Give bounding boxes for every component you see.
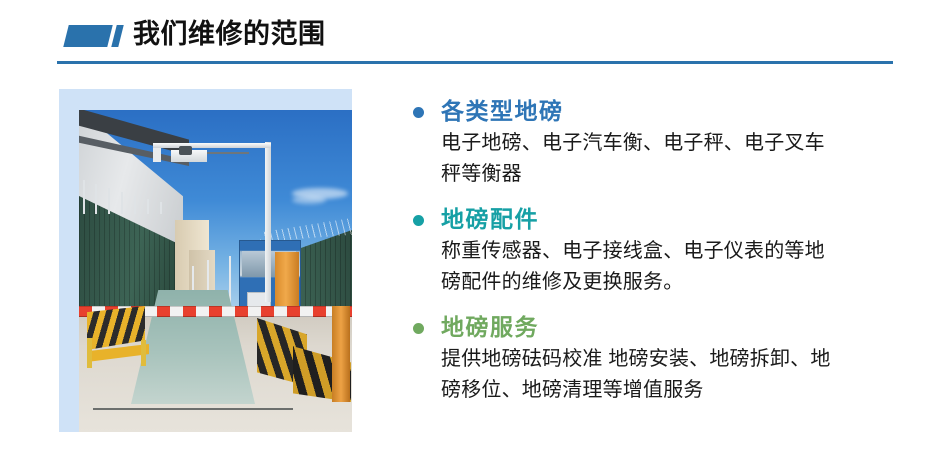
photo-camera-gantry-bracket [153, 148, 161, 162]
list-item: 地磅配件 称重传感器、电子接线盒、电子仪表的等地磅配件的维修及更换服务。 [410, 204, 920, 298]
list-item-body: 称重传感器、电子接线盒、电子仪表的等地磅配件的维修及更换服务。 [441, 236, 841, 298]
accent-parallelogram-icon [63, 25, 112, 47]
list-item-heading: 地磅服务 [441, 312, 920, 343]
bullet-dot-icon [413, 107, 424, 118]
list-item: 地磅服务 提供地磅砝码校准 地磅安装、地磅拆卸、地磅移位、地磅清理等增值服务 [410, 312, 920, 406]
header-accent-mark [66, 25, 122, 47]
bullet-dot-icon [413, 323, 424, 334]
photo-cloud [292, 196, 326, 204]
accent-slash-icon [111, 25, 123, 47]
list-item-body: 电子地磅、电子汽车衡、电子秤、电子叉车秤等衡器 [441, 128, 841, 190]
service-scope-list: 各类型地磅 电子地磅、电子汽车衡、电子秤、电子叉车秤等衡器 地磅配件 称重传感器… [410, 96, 920, 406]
list-item-heading: 地磅配件 [441, 204, 920, 235]
list-item-body: 提供地磅砝码校准 地磅安装、地磅拆卸、地磅移位、地磅清理等增值服务 [441, 344, 841, 406]
photo-camera-gantry-arm [153, 143, 271, 148]
photo-rail-post [87, 338, 92, 368]
photo-fence-posts [81, 166, 173, 214]
page-title: 我们维修的范围 [133, 16, 326, 52]
photo-rail-post [141, 340, 146, 366]
weighbridge-photo [79, 110, 352, 432]
photo-deck-seam [93, 408, 293, 410]
list-item-heading: 各类型地磅 [441, 96, 920, 127]
bullet-dot-icon [413, 215, 424, 226]
page-header: 我们维修的范围 [0, 0, 945, 70]
photo-camera-gantry-pole [265, 142, 271, 302]
header-divider [57, 61, 893, 64]
photo-surveillance-camera [179, 146, 192, 155]
photo-orange-bollard [332, 306, 350, 402]
list-item: 各类型地磅 电子地磅、电子汽车衡、电子秤、电子叉车秤等衡器 [410, 96, 920, 190]
